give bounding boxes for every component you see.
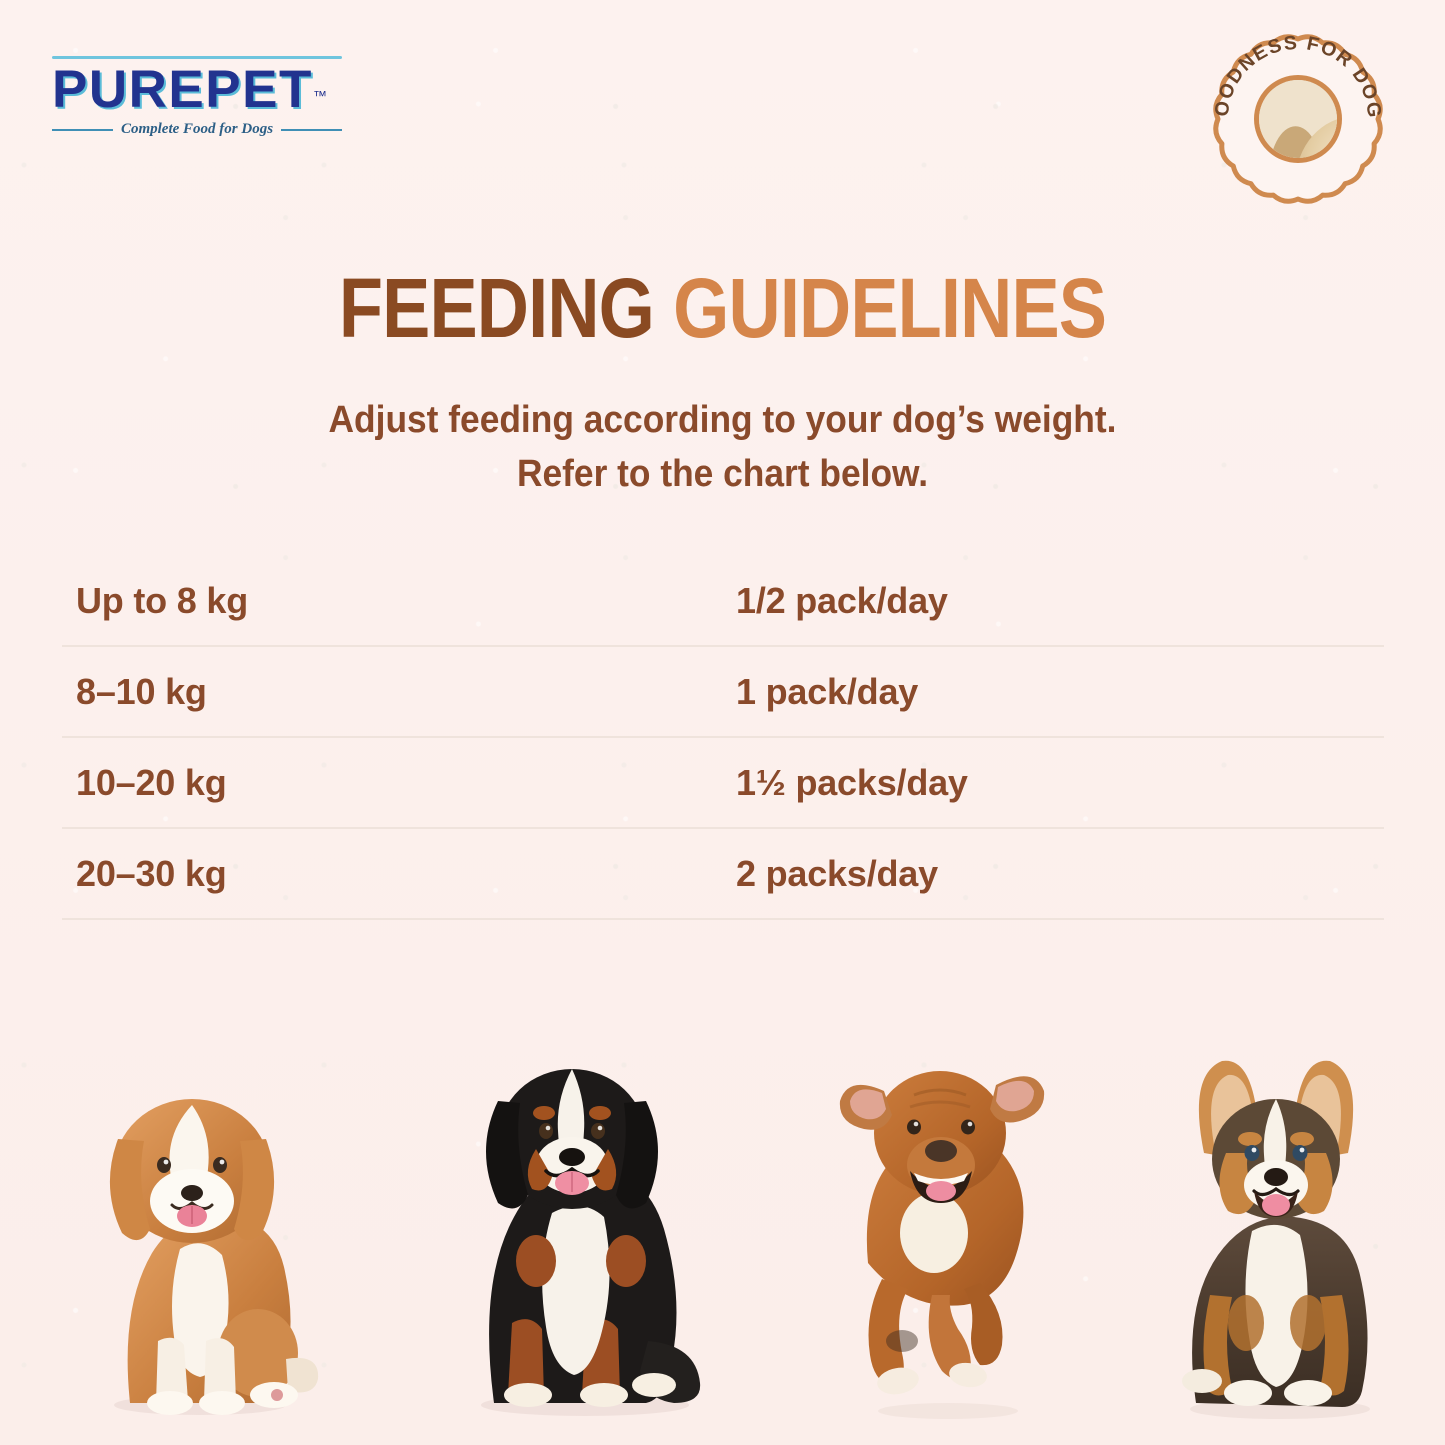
page-subtitle: Adjust feeding according to your dog’s w…: [51, 394, 1395, 502]
weight-value: Up to 8 kg: [76, 580, 248, 621]
logo-wordmark: PUREPET: [52, 63, 313, 116]
dog-photo-2: [440, 1023, 720, 1423]
badge-dog-photo: [1254, 75, 1342, 163]
table-row: Up to 8 kg 1/2 pack/day: [62, 556, 1384, 647]
weight-value: 10–20 kg: [76, 762, 227, 803]
table-row: 20–30 kg 2 packs/day: [62, 829, 1384, 920]
dog-photo-strip: [0, 1023, 1445, 1423]
logo-tagline: Complete Food for Dogs: [121, 121, 273, 138]
weight-value: 20–30 kg: [76, 853, 227, 894]
amount-value: 1 pack/day: [736, 671, 918, 712]
page-subtitle-line2: Refer to the chart below.: [51, 448, 1395, 502]
table-cell-amount: 1½ packs/day: [736, 762, 1384, 804]
logo-tagline-rule-right: [281, 129, 342, 131]
amount-value: 1/2 pack/day: [736, 580, 948, 621]
table-cell-weight: 20–30 kg: [62, 853, 736, 895]
logo-wordmark-row: PUREPET™: [52, 63, 342, 116]
dog-photo-3: [828, 1023, 1088, 1423]
table-cell-weight: 10–20 kg: [62, 762, 736, 804]
table-cell-weight: Up to 8 kg: [62, 580, 736, 622]
feeding-guidelines-table: Up to 8 kg 1/2 pack/day 8–10 kg 1 pack/d…: [62, 556, 1384, 920]
amount-value: 1½ packs/day: [736, 762, 968, 803]
page-title-part1: FEEDING: [339, 261, 654, 355]
weight-value: 8–10 kg: [76, 671, 207, 712]
logo-tagline-row: Complete Food for Dogs: [52, 121, 342, 138]
table-cell-amount: 1/2 pack/day: [736, 580, 1384, 622]
table-cell-amount: 1 pack/day: [736, 671, 1384, 713]
table-cell-weight: 8–10 kg: [62, 671, 736, 713]
page-subtitle-line1: Adjust feeding according to your dog’s w…: [51, 394, 1395, 448]
dog-photo-1: [72, 1053, 322, 1423]
page-title-part2: GUIDELINES: [673, 261, 1106, 355]
logo-trademark-icon: ™: [313, 88, 327, 104]
logo-tagline-rule-left: [52, 129, 113, 131]
goodness-for-dogs-badge: GOODNESS FOR DOGS: [1203, 24, 1393, 214]
amount-value: 2 packs/day: [736, 853, 938, 894]
dog-photo-4: [1152, 1033, 1402, 1423]
page-title: FEEDING GUIDELINES: [101, 266, 1344, 350]
table-cell-amount: 2 packs/day: [736, 853, 1384, 895]
purepet-logo: PUREPET™ Complete Food for Dogs: [52, 56, 342, 138]
table-row: 8–10 kg 1 pack/day: [62, 647, 1384, 738]
logo-top-rule: [52, 56, 342, 59]
table-row: 10–20 kg 1½ packs/day: [62, 738, 1384, 829]
